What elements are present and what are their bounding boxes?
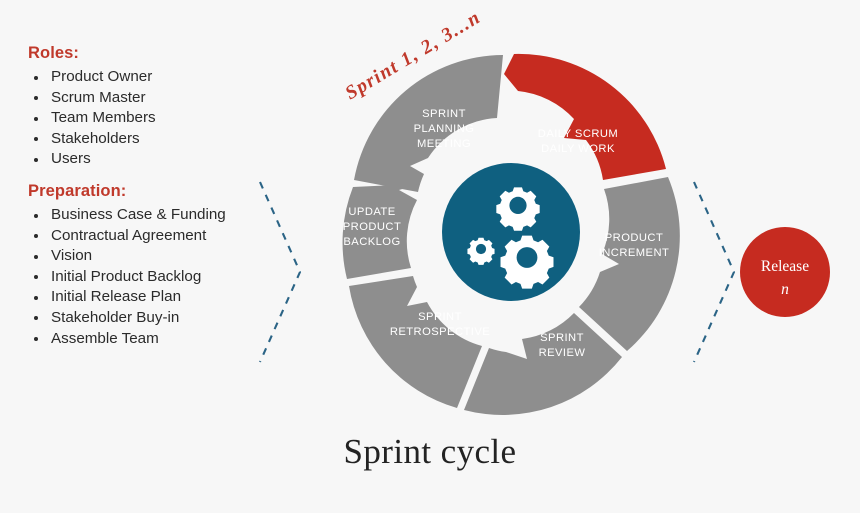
right-dashed-connector	[694, 182, 734, 362]
segment-product-increment[interactable]	[579, 177, 680, 351]
list-item: Stakeholder Buy-in	[28, 308, 226, 329]
segment-line: SPRINT	[418, 311, 462, 323]
segment-line: PLANNING	[414, 123, 475, 135]
list-item: Stakeholders	[28, 129, 156, 150]
release-subscript: n	[781, 281, 789, 298]
segment-line: BACKLOG	[343, 236, 400, 248]
sprint-cycle-diagram: SPRINT PLANNING MEETING DAILY SCRUM DAIL…	[242, 14, 860, 434]
left-dashed-connector	[260, 182, 300, 362]
list-item: Users	[28, 149, 156, 170]
preparation-title: Preparation:	[28, 182, 226, 201]
list-item: Assemble Team	[28, 329, 226, 350]
list-item: Product Owner	[28, 67, 156, 88]
list-item: Scrum Master	[28, 88, 156, 109]
list-item: Contractual Agreement	[28, 226, 226, 247]
release-node[interactable]: Release n	[740, 227, 830, 317]
segment-label-update-product-backlog: UPDATE PRODUCT BACKLOG	[343, 206, 401, 248]
segment-label-sprint-planning-meeting: SPRINT PLANNING MEETING	[414, 108, 475, 150]
segment-line: DAILY WORK	[541, 143, 615, 155]
list-item: Team Members	[28, 108, 156, 129]
diagram-canvas: Roles: Product Owner Scrum Master Team M…	[0, 0, 860, 513]
roles-panel: Roles: Product Owner Scrum Master Team M…	[28, 44, 156, 170]
list-item: Vision	[28, 246, 226, 267]
roles-title: Roles:	[28, 44, 156, 63]
list-item: Initial Product Backlog	[28, 267, 226, 288]
preparation-panel: Preparation: Business Case & Funding Con…	[28, 182, 226, 349]
segment-line: RETROSPECTIVE	[390, 326, 490, 338]
segment-line: PRODUCT	[343, 221, 401, 233]
segment-line: SPRINT	[422, 108, 466, 120]
segment-line: PRODUCT	[605, 232, 663, 244]
segment-line: UPDATE	[348, 206, 395, 218]
segment-line: MEETING	[417, 138, 471, 150]
segment-line: INCREMENT	[599, 247, 670, 259]
release-label: Release	[761, 258, 809, 275]
roles-list: Product Owner Scrum Master Team Members …	[28, 67, 156, 170]
segment-line: DAILY SCRUM	[538, 128, 618, 140]
segment-line: SPRINT	[540, 332, 584, 344]
list-item: Initial Release Plan	[28, 287, 226, 308]
list-item: Business Case & Funding	[28, 205, 226, 226]
segment-line: REVIEW	[539, 347, 586, 359]
page-title: Sprint cycle	[0, 432, 860, 472]
preparation-list: Business Case & Funding Contractual Agre…	[28, 205, 226, 349]
